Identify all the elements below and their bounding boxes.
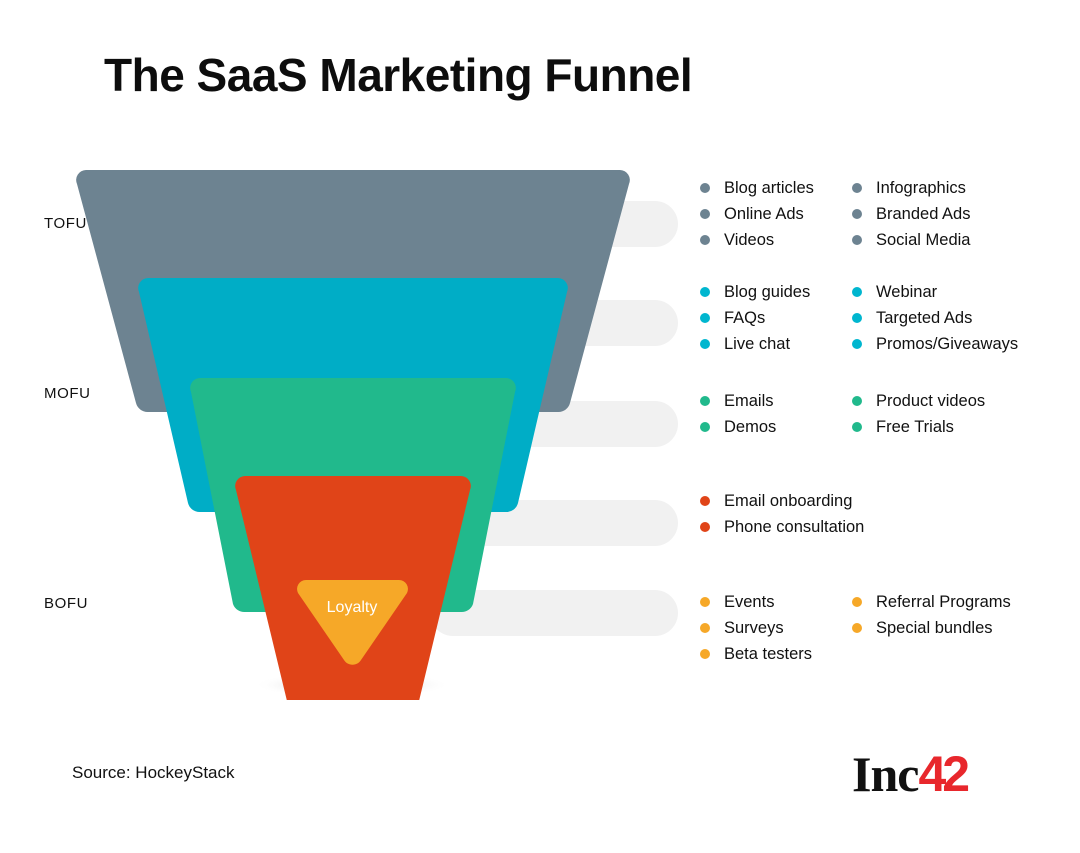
list-item[interactable]: Events xyxy=(700,589,812,615)
bullet-icon xyxy=(852,396,862,406)
bullet-icon xyxy=(852,339,862,349)
funnel-stage-loyalty-label: Loyalty xyxy=(327,599,378,616)
bullet-icon xyxy=(700,623,710,633)
legend-item-label: Phone consultation xyxy=(724,519,864,536)
page-title: The SaaS Marketing Funnel xyxy=(104,48,692,102)
bullet-icon xyxy=(852,623,862,633)
legend-item-label: Blog guides xyxy=(724,284,810,301)
bullet-icon xyxy=(700,396,710,406)
list-item[interactable]: Emails xyxy=(700,388,776,414)
legend-item-label: FAQs xyxy=(724,310,765,327)
legend-item-label: Promos/Giveaways xyxy=(876,336,1018,353)
bullet-icon xyxy=(700,522,710,532)
legend-item-label: Live chat xyxy=(724,336,790,353)
brand-logo: Inc42 xyxy=(852,745,966,803)
bullet-icon xyxy=(852,235,862,245)
list-item[interactable]: Free Trials xyxy=(852,414,985,440)
list-item[interactable]: Blog articles xyxy=(700,175,814,201)
legend-column-left: Emails Demos xyxy=(700,388,776,440)
brand-logo-inc-text: Inc xyxy=(852,745,918,803)
list-item[interactable]: Promos/Giveaways xyxy=(852,331,1018,357)
bullet-icon xyxy=(852,209,862,219)
legend-item-label: Infographics xyxy=(876,180,966,197)
legend-item-label: Surveys xyxy=(724,620,784,637)
legend-item-label: Branded Ads xyxy=(876,206,971,223)
legend-column-left: Blog guides FAQs Live chat xyxy=(700,279,810,357)
bullet-icon xyxy=(700,235,710,245)
legend-item-label: Webinar xyxy=(876,284,937,301)
bullet-icon xyxy=(700,649,710,659)
bullet-icon xyxy=(700,597,710,607)
bullet-icon xyxy=(700,183,710,193)
legend-column-right: Webinar Targeted Ads Promos/Giveaways xyxy=(852,279,1018,357)
list-item[interactable]: Infographics xyxy=(852,175,971,201)
list-item[interactable]: Branded Ads xyxy=(852,201,971,227)
legend-item-label: Blog articles xyxy=(724,180,814,197)
list-item[interactable]: Targeted Ads xyxy=(852,305,1018,331)
legend-column-right: Product videos Free Trials xyxy=(852,388,985,440)
list-item[interactable]: Email onboarding xyxy=(700,488,864,514)
legend-item-label: Events xyxy=(724,594,774,611)
list-item[interactable]: Surveys xyxy=(700,615,812,641)
bullet-icon xyxy=(852,422,862,432)
legend-item-label: Targeted Ads xyxy=(876,310,972,327)
bullet-icon xyxy=(700,339,710,349)
legend-column-right: Referral Programs Special bundles xyxy=(852,589,1011,641)
bullet-icon xyxy=(852,183,862,193)
legend-item-label: Videos xyxy=(724,232,774,249)
legend-item-label: Referral Programs xyxy=(876,594,1011,611)
list-item[interactable]: Social Media xyxy=(852,227,971,253)
list-item[interactable]: FAQs xyxy=(700,305,810,331)
legend-item-label: Demos xyxy=(724,419,776,436)
legend-item-label: Social Media xyxy=(876,232,970,249)
bullet-icon xyxy=(700,287,710,297)
list-item[interactable]: Videos xyxy=(700,227,814,253)
legend-item-label: Emails xyxy=(724,393,774,410)
bullet-icon xyxy=(852,287,862,297)
list-item[interactable]: Webinar xyxy=(852,279,1018,305)
list-item[interactable]: Demos xyxy=(700,414,776,440)
bullet-icon xyxy=(700,313,710,323)
bullet-icon xyxy=(700,496,710,506)
brand-logo-42-text: 42 xyxy=(918,745,966,803)
bullet-icon xyxy=(700,209,710,219)
legend-column-right: Infographics Branded Ads Social Media xyxy=(852,175,971,253)
list-item[interactable]: Beta testers xyxy=(700,641,812,667)
source-note: Source: HockeyStack xyxy=(72,763,235,783)
list-item[interactable]: Blog guides xyxy=(700,279,810,305)
bullet-icon xyxy=(852,313,862,323)
list-item[interactable]: Phone consultation xyxy=(700,514,864,540)
list-item[interactable]: Special bundles xyxy=(852,615,1011,641)
legend-column-left: Events Surveys Beta testers xyxy=(700,589,812,667)
bullet-icon xyxy=(852,597,862,607)
list-item[interactable]: Live chat xyxy=(700,331,810,357)
legend-item-label: Special bundles xyxy=(876,620,993,637)
legend-item-label: Email onboarding xyxy=(724,493,852,510)
bullet-icon xyxy=(700,422,710,432)
list-item[interactable]: Online Ads xyxy=(700,201,814,227)
legend-item-label: Online Ads xyxy=(724,206,804,223)
legend-item-label: Free Trials xyxy=(876,419,954,436)
legend-column-left: Blog articles Online Ads Videos xyxy=(700,175,814,253)
legend-column-left: Email onboarding Phone consultation xyxy=(700,488,864,540)
list-item[interactable]: Referral Programs xyxy=(852,589,1011,615)
list-item[interactable]: Product videos xyxy=(852,388,985,414)
legend-item-label: Beta testers xyxy=(724,646,812,663)
funnel-diagram: Awareness Interest Desire Action Loyalty xyxy=(0,160,700,700)
legend-item-label: Product videos xyxy=(876,393,985,410)
